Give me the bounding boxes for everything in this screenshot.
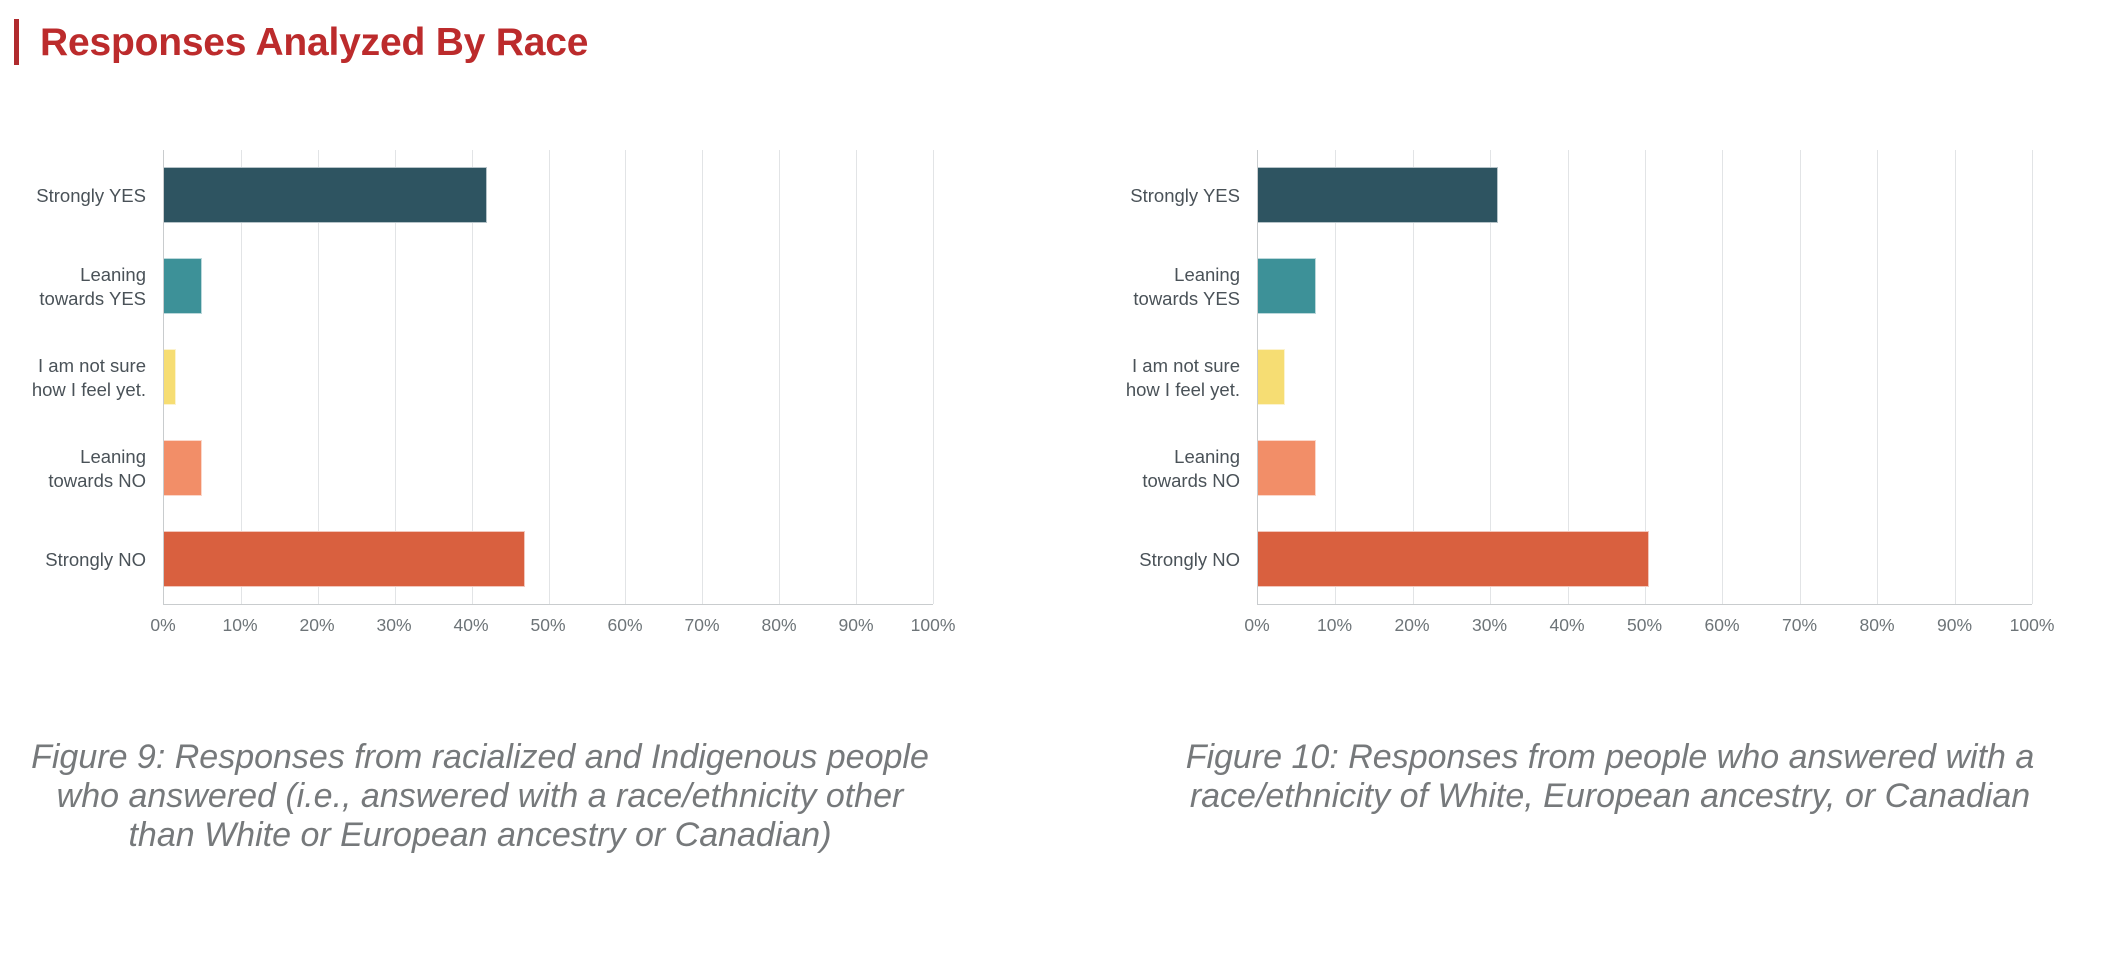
figure-10-plot-area <box>1257 150 2032 605</box>
page-header: Responses Analyzed By Race <box>0 14 588 70</box>
x-tick-label: 100% <box>2010 615 2055 636</box>
bar-row <box>1258 241 2032 332</box>
gridline <box>933 150 934 604</box>
bar <box>1258 349 1285 405</box>
bar <box>1258 167 1498 223</box>
category-label: Strongly YES <box>36 184 146 208</box>
category-label: Leaning towards NO <box>48 445 146 492</box>
x-tick-label: 70% <box>1782 615 1817 636</box>
bar-row <box>1258 513 2032 604</box>
page-root: Responses Analyzed By Race Strongly YESL… <box>0 0 2116 980</box>
bar-row <box>164 332 933 423</box>
category-label: Strongly YES <box>1130 184 1240 208</box>
bar-row <box>164 150 933 241</box>
bar <box>164 167 487 223</box>
x-tick-label: 50% <box>530 615 565 636</box>
category-label: I am not sure how I feel yet. <box>32 354 146 401</box>
category-label-row: Strongly YES <box>10 150 160 241</box>
figure-9-plot-area <box>163 150 933 605</box>
category-label-row: Leaning towards NO <box>10 423 160 514</box>
category-label: Leaning towards YES <box>1133 263 1240 310</box>
figure-9-caption: Figure 9: Responses from racialized and … <box>20 738 940 854</box>
figure-9-category-axis: Strongly YESLeaning towards YESI am not … <box>10 150 160 605</box>
x-tick-label: 80% <box>761 615 796 636</box>
figure-10-x-axis: 0%10%20%30%40%50%60%70%80%90%100% <box>1257 605 2032 645</box>
bar <box>164 440 202 496</box>
figure-10-category-axis: Strongly YESLeaning towards YESI am not … <box>1104 150 1254 605</box>
figure-10-caption: Figure 10: Responses from people who ans… <box>1142 738 2078 816</box>
figure-10-bars <box>1258 150 2032 604</box>
x-tick-label: 90% <box>1937 615 1972 636</box>
category-label: Strongly NO <box>1139 548 1240 572</box>
x-tick-label: 0% <box>150 615 175 636</box>
x-tick-label: 10% <box>222 615 257 636</box>
category-label-row: Strongly YES <box>1104 150 1254 241</box>
x-tick-label: 10% <box>1317 615 1352 636</box>
category-label-row: Leaning towards YES <box>10 241 160 332</box>
figure-10-plot-wrap: Strongly YESLeaning towards YESI am not … <box>1080 150 2116 605</box>
x-tick-label: 20% <box>299 615 334 636</box>
gridline <box>2032 150 2033 604</box>
bar <box>164 531 525 587</box>
x-tick-label: 30% <box>376 615 411 636</box>
bar-row <box>164 513 933 604</box>
bar-row <box>1258 332 2032 423</box>
category-label-row: I am not sure how I feel yet. <box>10 332 160 423</box>
category-label: Leaning towards NO <box>1142 445 1240 492</box>
figure-9-panel: Strongly YESLeaning towards YESI am not … <box>0 150 1020 660</box>
x-tick-label: 40% <box>453 615 488 636</box>
figure-9-x-axis: 0%10%20%30%40%50%60%70%80%90%100% <box>163 605 933 645</box>
x-tick-label: 40% <box>1549 615 1584 636</box>
bar <box>1258 258 1316 314</box>
category-label-row: Strongly NO <box>1104 514 1254 605</box>
figure-10-panel: Strongly YESLeaning towards YESI am not … <box>1080 150 2116 660</box>
bar-row <box>1258 150 2032 241</box>
bar-row <box>164 422 933 513</box>
title-accent-bar <box>14 19 19 65</box>
bar <box>1258 531 1649 587</box>
category-label: Leaning towards YES <box>39 263 146 310</box>
x-tick-label: 0% <box>1244 615 1269 636</box>
figure-9-plot-wrap: Strongly YESLeaning towards YESI am not … <box>0 150 1020 605</box>
bar-row <box>1258 422 2032 513</box>
bar <box>164 258 202 314</box>
bar-row <box>164 241 933 332</box>
x-tick-label: 80% <box>1859 615 1894 636</box>
x-tick-label: 60% <box>1704 615 1739 636</box>
x-tick-label: 30% <box>1472 615 1507 636</box>
category-label-row: Leaning towards NO <box>1104 423 1254 514</box>
bar <box>1258 440 1316 496</box>
category-label: Strongly NO <box>45 548 146 572</box>
category-label-row: Leaning towards YES <box>1104 241 1254 332</box>
bar <box>164 349 176 405</box>
x-tick-label: 50% <box>1627 615 1662 636</box>
figure-10-chart: Strongly YESLeaning towards YESI am not … <box>1080 150 2116 660</box>
figure-9-chart: Strongly YESLeaning towards YESI am not … <box>0 150 1020 660</box>
category-label: I am not sure how I feel yet. <box>1126 354 1240 401</box>
category-label-row: I am not sure how I feel yet. <box>1104 332 1254 423</box>
x-tick-label: 70% <box>684 615 719 636</box>
x-tick-label: 20% <box>1394 615 1429 636</box>
x-tick-label: 90% <box>838 615 873 636</box>
x-tick-label: 100% <box>911 615 956 636</box>
category-label-row: Strongly NO <box>10 514 160 605</box>
x-tick-label: 60% <box>607 615 642 636</box>
page-title: Responses Analyzed By Race <box>40 23 588 62</box>
figure-9-bars <box>164 150 933 604</box>
